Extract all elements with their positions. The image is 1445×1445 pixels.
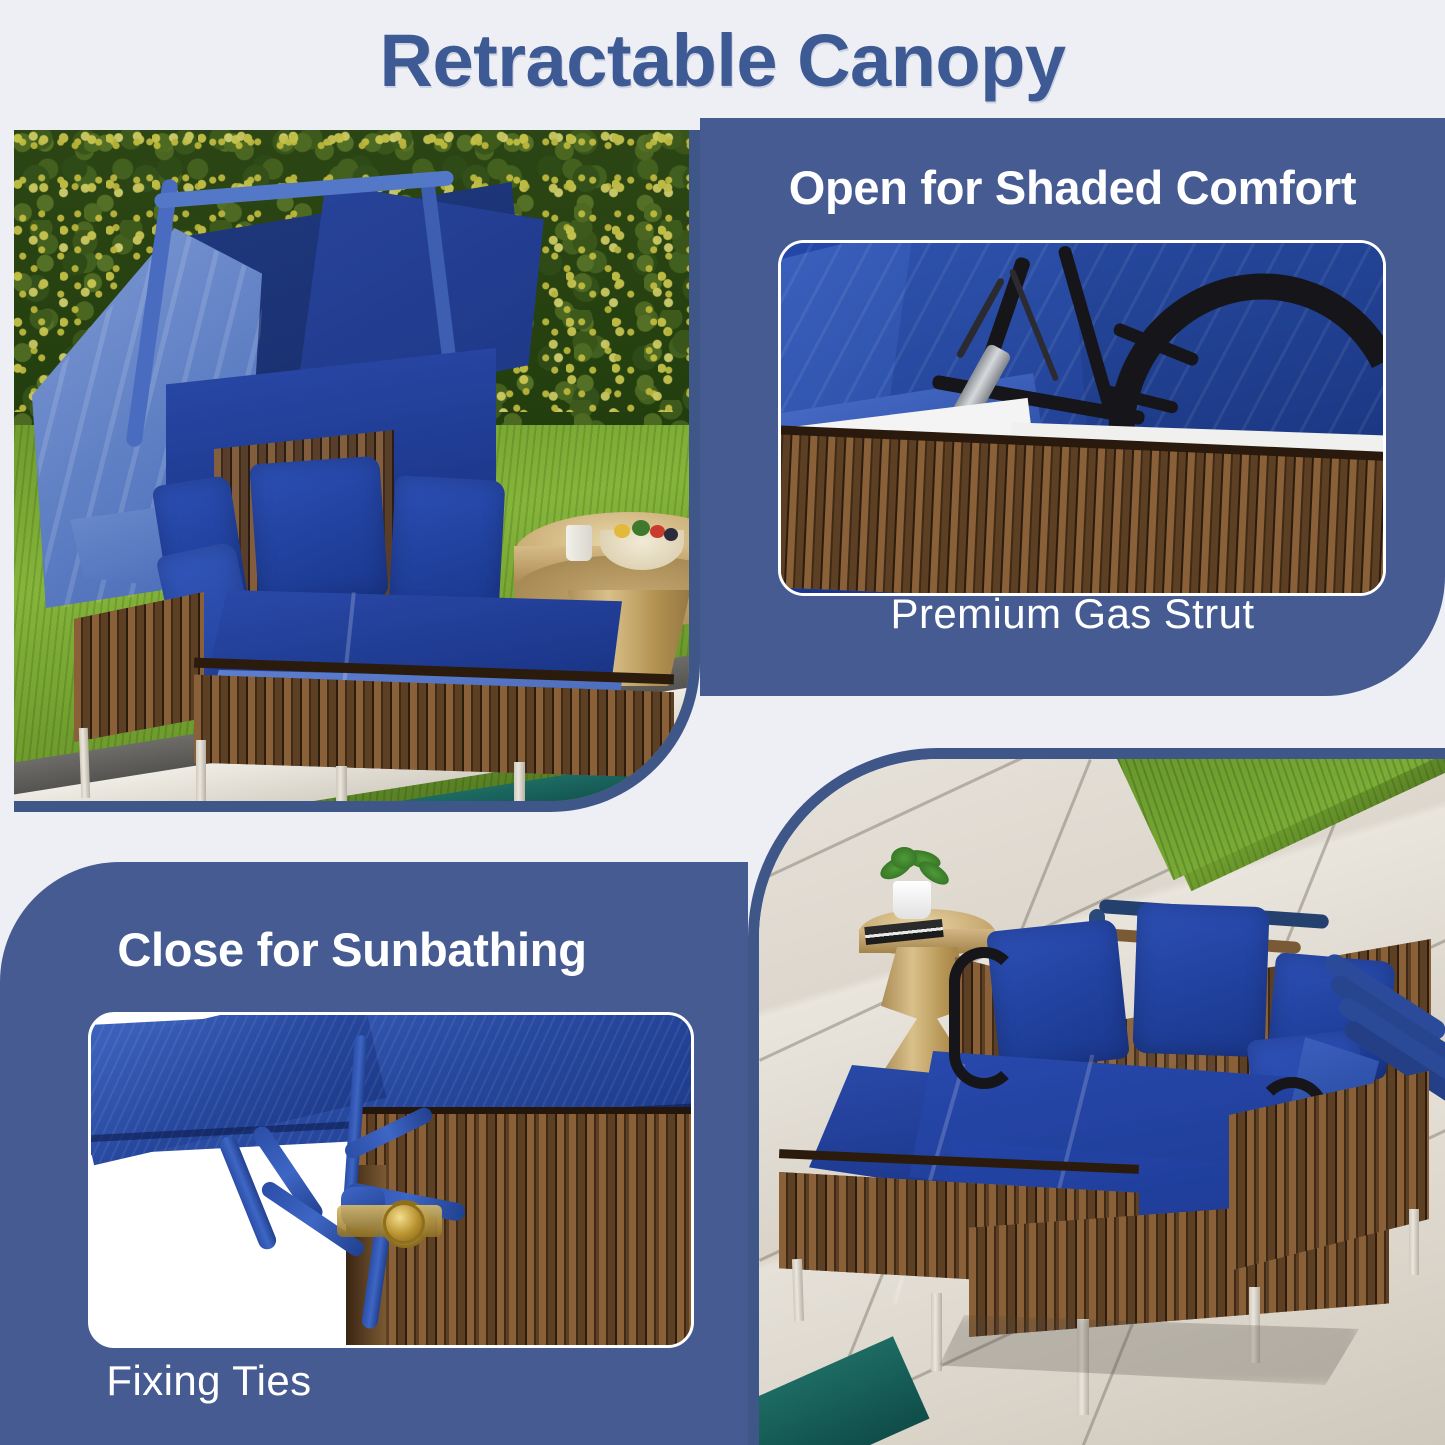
caption-premium-gas-strut: Premium Gas Strut: [700, 590, 1445, 638]
hero-image-canopy-open: [14, 130, 700, 812]
panel-heading-close-for-sunbathing: Close for Sunbathing: [0, 922, 748, 977]
fixing-ties-closeup-image: [88, 1012, 694, 1348]
gas-strut-closeup-image: [778, 240, 1386, 596]
page-title: Retractable Canopy: [0, 8, 1445, 112]
panel-heading-open-shaded-comfort: Open for Shaded Comfort: [700, 160, 1445, 215]
image-canopy-closed-patio: [748, 748, 1445, 1445]
caption-fixing-ties: Fixing Ties: [0, 1357, 748, 1405]
infographic-stage: Retractable Canopy Open for Shaded Comfo…: [0, 0, 1445, 1445]
